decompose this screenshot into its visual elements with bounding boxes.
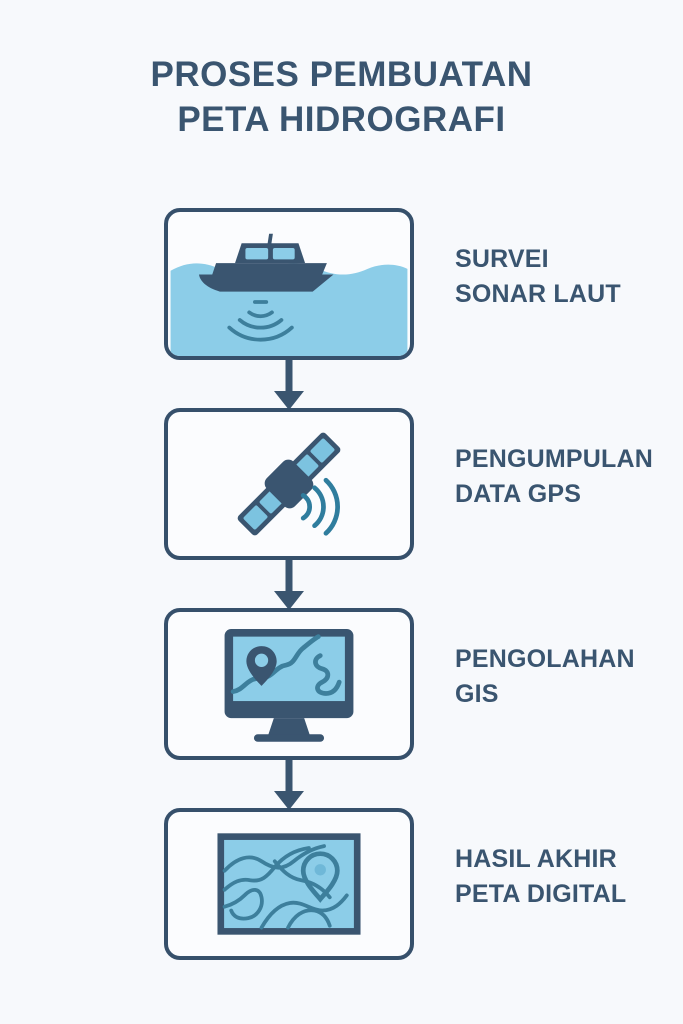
label-hasil-akhir-peta-digital: HASIL AKHIR PETA DIGITAL: [455, 842, 680, 912]
digital-map-icon: [168, 812, 410, 956]
label-pengolahan-gis: PENGOLAHAN GIS: [455, 642, 680, 712]
label-line-2: SONAR LAUT: [455, 277, 680, 312]
flow-step-1: SURVEI SONAR LAUT: [0, 208, 683, 408]
label-line-1: HASIL AKHIR: [455, 842, 680, 877]
label-line-2: DATA GPS: [455, 477, 680, 512]
satellite-glyph: [236, 431, 342, 537]
flow-step-3: PENGOLAHAN GIS: [0, 608, 683, 808]
flow-step-4: HASIL AKHIR PETA DIGITAL: [0, 808, 683, 1008]
boat-glyph: [199, 234, 334, 292]
title-line-1: PROSES PEMBUATAN: [0, 52, 683, 97]
label-line-1: SURVEI: [455, 242, 680, 277]
label-line-2: GIS: [455, 677, 680, 712]
label-survei-sonar-laut: SURVEI SONAR LAUT: [455, 242, 680, 312]
flow-step-2: PENGUMPULAN DATA GPS: [0, 408, 683, 608]
page-title: PROSES PEMBUATAN PETA HIDROGRAFI: [0, 52, 683, 142]
satellite-signal-icon: [168, 412, 410, 556]
label-line-2: PETA DIGITAL: [455, 877, 680, 912]
card-hasil-akhir-peta-digital[interactable]: [164, 808, 414, 960]
card-survei-sonar-laut[interactable]: [164, 208, 414, 360]
card-pengumpulan-data-gps[interactable]: [164, 408, 414, 560]
label-pengumpulan-data-gps: PENGUMPULAN DATA GPS: [455, 442, 680, 512]
label-line-1: PENGUMPULAN: [455, 442, 680, 477]
label-line-1: PENGOLAHAN: [455, 642, 680, 677]
process-flow: SURVEI SONAR LAUT: [0, 208, 683, 1008]
card-pengolahan-gis[interactable]: [164, 608, 414, 760]
monitor-map-icon: [168, 612, 410, 756]
boat-sonar-icon: [168, 212, 410, 356]
title-line-2: PETA HIDROGRAFI: [0, 97, 683, 142]
